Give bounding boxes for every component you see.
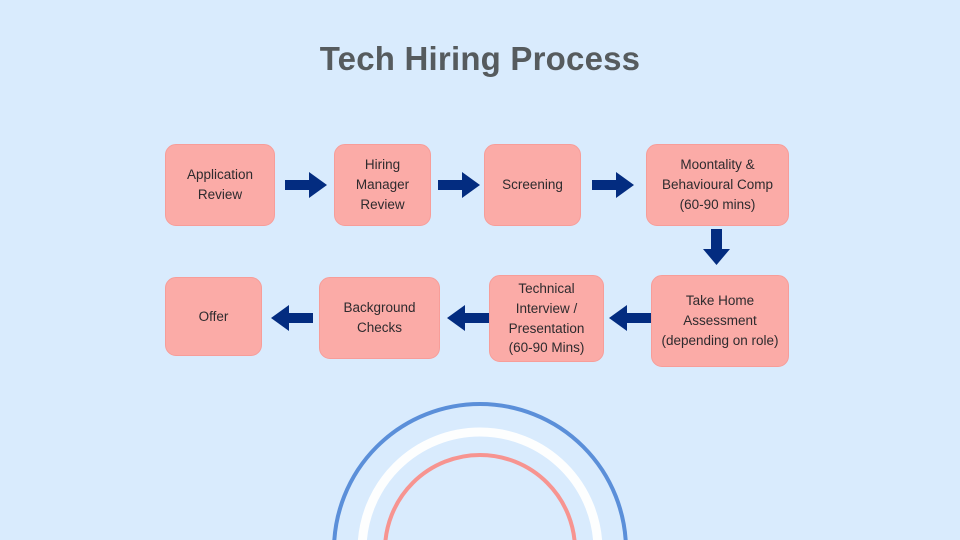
flow-node-label: Technical Interview / Presentation (60-9… <box>497 279 596 359</box>
arc-white-icon <box>362 432 598 540</box>
arrow-right-icon <box>438 170 480 200</box>
flow-node-motivational-behavioural[interactable]: Moontality & Behavioural Comp (60-90 min… <box>646 144 789 226</box>
flow-node-label: Screening <box>502 175 563 195</box>
flow-node-label: Background Checks <box>327 298 432 338</box>
flow-node-background-checks[interactable]: Background Checks <box>319 277 440 359</box>
flow-node-application-review[interactable]: Application Review <box>165 144 275 226</box>
flow-node-label: Moontality & Behavioural Comp (60-90 min… <box>654 155 781 215</box>
flow-node-label: Application Review <box>173 165 267 205</box>
flow-node-hiring-manager-review[interactable]: Hiring Manager Review <box>334 144 431 226</box>
rainbow-arcs-decoration <box>0 0 960 540</box>
flow-node-label: Offer <box>199 307 229 327</box>
arrow-right-icon <box>592 170 634 200</box>
flow-node-screening[interactable]: Screening <box>484 144 581 226</box>
slide-canvas: Tech Hiring Process Application Review H… <box>0 0 960 540</box>
arrow-left-icon <box>271 303 313 333</box>
arrow-down-icon <box>701 229 732 265</box>
flow-node-offer[interactable]: Offer <box>165 277 262 356</box>
arrow-left-icon <box>447 303 489 333</box>
flow-node-take-home-assessment[interactable]: Take Home Assessment (depending on role) <box>651 275 789 367</box>
arrow-right-icon <box>285 170 327 200</box>
arrow-left-icon <box>609 303 651 333</box>
flow-node-technical-interview[interactable]: Technical Interview / Presentation (60-9… <box>489 275 604 362</box>
flow-node-label: Hiring Manager Review <box>342 155 423 215</box>
page-title: Tech Hiring Process <box>0 40 960 78</box>
arc-pink-icon <box>385 455 575 540</box>
flow-node-label: Take Home Assessment (depending on role) <box>659 291 781 351</box>
arc-blue-icon <box>334 404 626 540</box>
